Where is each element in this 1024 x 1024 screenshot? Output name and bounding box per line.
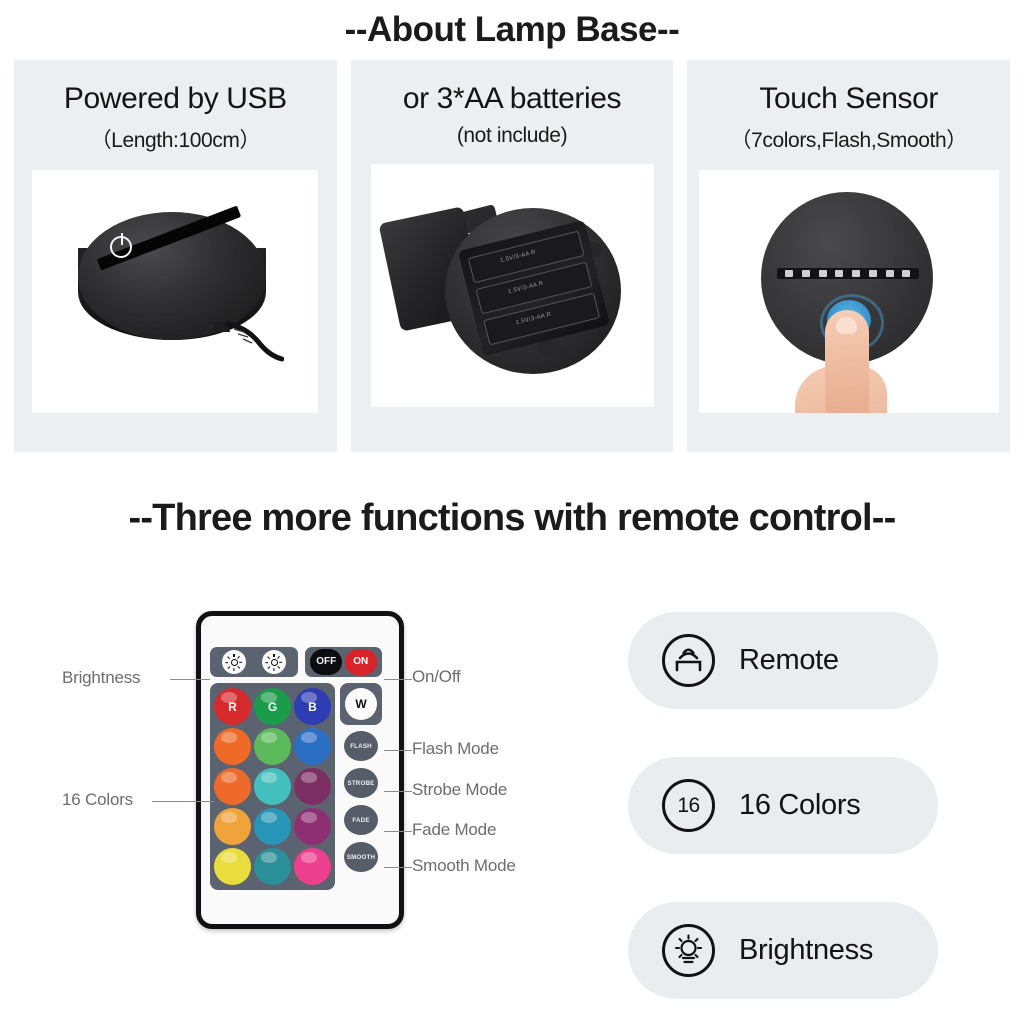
color-button-9[interactable] xyxy=(294,768,331,805)
brightness-up-button[interactable] xyxy=(222,650,246,674)
battery-slot-label: 1.5V/3-AA R xyxy=(507,281,544,296)
color-button-green[interactable]: G xyxy=(254,688,291,725)
finger-illustration xyxy=(825,310,869,413)
leader-line-smooth-mode xyxy=(384,867,412,868)
callout-flash-mode: Flash Mode xyxy=(412,739,499,759)
panel-title: Powered by USB xyxy=(64,82,287,116)
leader-line-brightness xyxy=(170,679,210,680)
feature-pill-label: Remote xyxy=(739,644,839,677)
battery-slot-label: 1.5V/3-AA R xyxy=(499,250,536,265)
flash-mode-button[interactable]: FLASH xyxy=(344,731,378,761)
callout-strobe-mode: Strobe Mode xyxy=(412,780,507,800)
page-title-remote-functions: --Three more functions with remote contr… xyxy=(0,497,1024,540)
on-button[interactable]: ON xyxy=(345,649,377,675)
leader-line-on-off xyxy=(384,679,412,680)
leader-line-strobe-mode xyxy=(384,791,412,792)
feature-pill-16-colors[interactable]: 16 16 Colors xyxy=(628,757,938,854)
brightness-down-icon xyxy=(268,656,281,669)
panel-aa-batteries: or 3*AA batteries (not include) 1.5V/3-A… xyxy=(351,60,674,452)
led-dot xyxy=(902,270,910,277)
color-button-12[interactable] xyxy=(294,808,331,845)
remote-control: OFF ON R G B W xyxy=(196,611,404,929)
color-button-5[interactable] xyxy=(254,728,291,765)
panel-title: Touch Sensor xyxy=(759,82,938,116)
callout-brightness: Brightness xyxy=(62,668,140,688)
sixteen-badge-icon: 16 xyxy=(662,779,715,832)
brightness-up-icon xyxy=(228,656,241,669)
panel-subtitle: （7colors,Flash,Smooth） xyxy=(731,124,967,154)
panel-subtitle: （Length:100cm） xyxy=(91,124,261,154)
remote-top-row: OFF ON xyxy=(210,647,382,677)
led-dot xyxy=(852,270,860,277)
fade-mode-button[interactable]: FADE xyxy=(344,805,378,835)
mode-button-list: FLASH STROBE FADE SMOOTH xyxy=(344,731,378,872)
feature-pill-label: Brightness xyxy=(739,934,873,967)
white-button[interactable]: W xyxy=(345,688,377,720)
feature-pill-label: 16 Colors xyxy=(739,789,860,822)
battery-slot-label: 1.5V/3-AA R xyxy=(515,312,552,327)
smooth-mode-button[interactable]: SMOOTH xyxy=(344,842,378,872)
leader-line-16-colors xyxy=(152,801,214,802)
strobe-mode-button[interactable]: STROBE xyxy=(344,768,378,798)
battery-compartment-photo: 1.5V/3-AA R 1.5V/3-AA R 1.5V/3-AA R xyxy=(371,164,654,407)
panel-powered-by-usb: Powered by USB （Length:100cm） xyxy=(14,60,337,452)
leader-line-flash-mode xyxy=(384,750,412,751)
page-title-about-lamp-base: --About Lamp Base-- xyxy=(0,10,1024,50)
remote-signal-icon xyxy=(662,634,715,687)
led-dot xyxy=(886,270,894,277)
panel-title: or 3*AA batteries xyxy=(403,82,621,116)
feature-pill-remote[interactable]: Remote xyxy=(628,612,938,709)
led-strip xyxy=(777,268,919,279)
color-button-7[interactable] xyxy=(214,768,251,805)
remote-right-column: W FLASH STROBE FADE SMOOTH xyxy=(340,683,382,872)
color-button-6[interactable] xyxy=(294,728,331,765)
callout-on-off: On/Off xyxy=(412,667,461,687)
feature-panel-group: Powered by USB （Length:100cm） or 3*AA ba… xyxy=(14,60,1010,452)
color-button-10[interactable] xyxy=(214,808,251,845)
color-button-13[interactable] xyxy=(214,848,251,885)
feature-pill-group: Remote 16 16 Colors Brightness xyxy=(628,612,938,999)
usb-cable-icon xyxy=(210,318,284,362)
brightness-pad xyxy=(210,647,298,677)
color-button-15[interactable] xyxy=(294,848,331,885)
lamp-base-usb-photo xyxy=(32,170,318,413)
white-pad: W xyxy=(340,683,382,725)
led-dot xyxy=(819,270,827,277)
led-dot xyxy=(785,270,793,277)
color-button-4[interactable] xyxy=(214,728,251,765)
touch-sensor-photo xyxy=(699,170,999,413)
color-button-red[interactable]: R xyxy=(214,688,251,725)
led-dot xyxy=(869,270,877,277)
color-button-14[interactable] xyxy=(254,848,291,885)
color-button-blue[interactable]: B xyxy=(294,688,331,725)
panel-touch-sensor: Touch Sensor （7colors,Flash,Smooth） xyxy=(687,60,1010,452)
feature-pill-brightness[interactable]: Brightness xyxy=(628,902,938,999)
color-button-grid: R G B xyxy=(210,683,335,890)
callout-16-colors: 16 Colors xyxy=(62,790,133,810)
led-dot xyxy=(802,270,810,277)
brightness-bulb-icon xyxy=(662,924,715,977)
brightness-down-button[interactable] xyxy=(262,650,286,674)
color-button-11[interactable] xyxy=(254,808,291,845)
led-dot xyxy=(835,270,843,277)
off-button[interactable]: OFF xyxy=(310,649,342,675)
callout-smooth-mode: Smooth Mode xyxy=(412,856,516,876)
callout-fade-mode: Fade Mode xyxy=(412,820,496,840)
product-infographic: --About Lamp Base-- Powered by USB （Leng… xyxy=(0,0,1024,1024)
leader-line-fade-mode xyxy=(384,831,412,832)
panel-subtitle: (not include) xyxy=(457,124,567,148)
sixteen-badge-number: 16 xyxy=(665,782,712,829)
power-pad: OFF ON xyxy=(305,647,382,677)
rubber-foot xyxy=(537,340,561,356)
color-button-8[interactable] xyxy=(254,768,291,805)
